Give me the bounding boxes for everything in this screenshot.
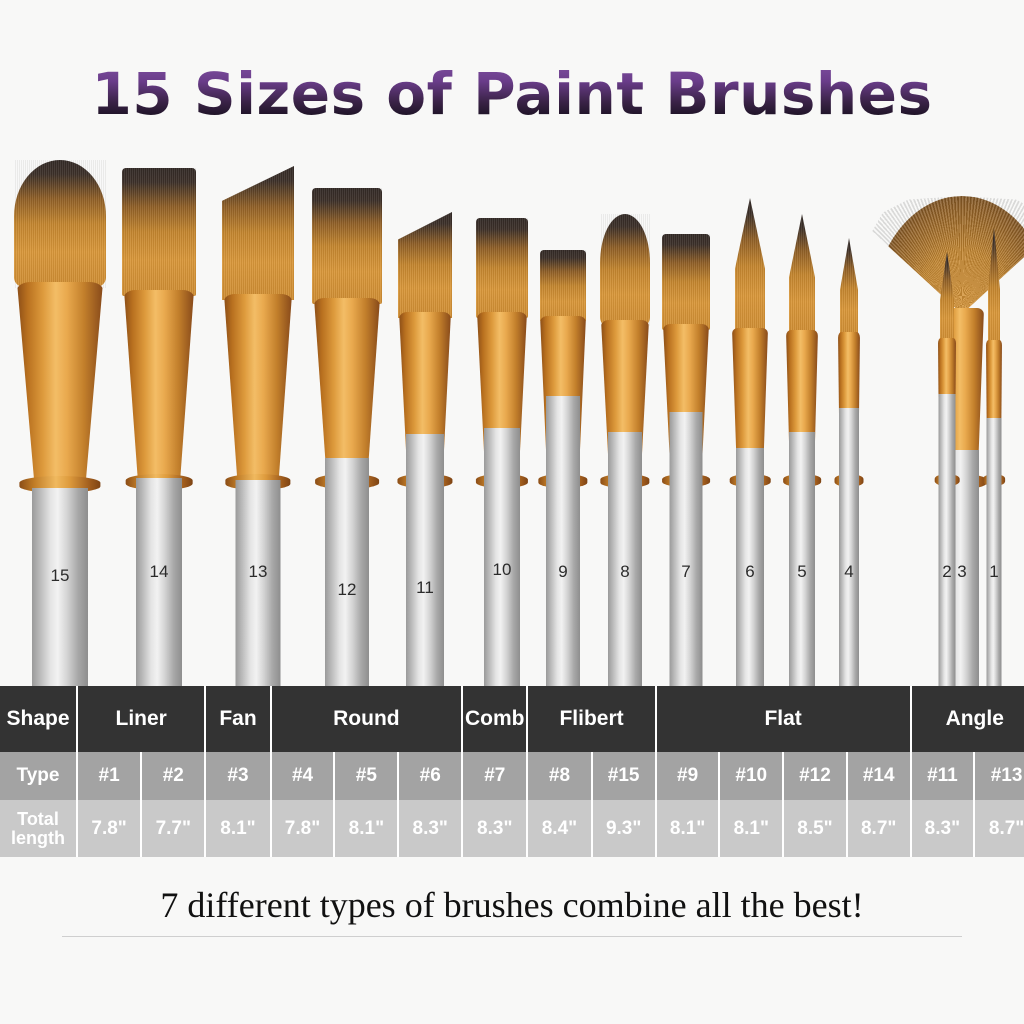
brush-head-flat-square <box>662 234 710 330</box>
type-cell-n8: #8 <box>527 752 591 800</box>
brush-head-angle <box>222 166 294 300</box>
handle-number-14: 14 <box>150 562 169 582</box>
handle-number-7: 7 <box>681 562 690 582</box>
brush-15: 15 <box>14 160 106 686</box>
type-cell-n13: #13 <box>974 752 1024 800</box>
brush-head-round-dome <box>600 214 650 326</box>
handle-number-13: 13 <box>249 562 268 582</box>
brush-2: 2 <box>938 252 956 686</box>
brush-10: 10 <box>476 218 528 686</box>
length-cell-n6: 8.3" <box>398 800 462 857</box>
handle-number-10: 10 <box>493 560 512 580</box>
brush-head-flat-square <box>476 218 528 318</box>
brush-handle <box>236 480 281 686</box>
brush-4: 4 <box>838 238 860 686</box>
handle-number-11: 11 <box>416 578 434 598</box>
type-cell-n1: #1 <box>77 752 141 800</box>
type-cell-n5: #5 <box>334 752 398 800</box>
table-row-shape: ShapeLinerFanRoundCombFlibertFlatAngle <box>0 686 1024 752</box>
type-cell-n6: #6 <box>398 752 462 800</box>
length-cell-n3: 8.1" <box>205 800 270 857</box>
brush-handle <box>789 432 815 686</box>
brush-head-point <box>940 252 954 344</box>
shape-group-liner: Liner <box>77 686 205 752</box>
length-cell-n8: 8.4" <box>527 800 591 857</box>
length-cell-n13: 8.7" <box>974 800 1024 857</box>
brush-5: 5 <box>786 214 818 686</box>
brush-head-point <box>789 214 815 336</box>
length-cell-n2: 7.7" <box>141 800 205 857</box>
brush-ferrule <box>224 294 292 480</box>
brush-handle <box>939 394 956 686</box>
tagline: 7 different types of brushes combine all… <box>0 884 1024 926</box>
type-cell-n7: #7 <box>462 752 527 800</box>
brush-handle <box>987 418 1002 686</box>
length-cell-n1: 7.8" <box>77 800 141 857</box>
brush-head-flat-square <box>540 250 586 322</box>
brush-handle <box>484 428 520 686</box>
brush-14: 14 <box>122 168 196 686</box>
brush-head-point <box>840 238 858 338</box>
brush-handle <box>608 432 642 686</box>
brush-head-point <box>735 198 765 334</box>
type-cell-n2: #2 <box>141 752 205 800</box>
page-title: 15 Sizes of Paint Brushes <box>0 64 1024 125</box>
brush-13: 13 <box>222 166 294 686</box>
handle-number-4: 4 <box>844 562 853 582</box>
brush-handle <box>325 458 369 686</box>
table-row-length: Totallength7.8"7.7"8.1"7.8"8.1"8.3"8.3"8… <box>0 800 1024 857</box>
shape-group-flibert: Flibert <box>527 686 655 752</box>
type-cell-n9: #9 <box>656 752 720 800</box>
brush-handle <box>839 408 859 686</box>
shape-group-angle: Angle <box>911 686 1024 752</box>
brush-9: 9 <box>540 250 586 686</box>
brush-1: 1 <box>986 228 1002 686</box>
handle-number-9: 9 <box>558 562 567 582</box>
brush-ferrule <box>314 298 380 480</box>
length-cell-n14: 8.7" <box>847 800 911 857</box>
table-row-type: Type#1#2#3#4#5#6#7#8#15#9#10#12#14#11#13 <box>0 752 1024 800</box>
shape-group-round: Round <box>271 686 463 752</box>
brush-ferrule <box>17 282 103 482</box>
brush-handle <box>546 396 580 686</box>
brush-head-flat-square <box>312 188 382 304</box>
type-cell-n15: #15 <box>592 752 656 800</box>
brush-head-point <box>988 228 1000 346</box>
handle-number-12: 12 <box>338 580 357 600</box>
handle-number-3: 3 <box>957 562 966 582</box>
brush-lineup-illustration: 151413121110987654321 <box>0 160 1024 686</box>
length-cell-n4: 7.8" <box>271 800 335 857</box>
type-cell-n11: #11 <box>911 752 975 800</box>
length-cell-n5: 8.1" <box>334 800 398 857</box>
type-cell-n4: #4 <box>271 752 335 800</box>
handle-number-5: 5 <box>797 562 806 582</box>
length-cell-n10: 8.1" <box>719 800 783 857</box>
brush-11: 11 <box>398 212 452 686</box>
type-cell-n14: #14 <box>847 752 911 800</box>
specification-table: ShapeLinerFanRoundCombFlibertFlatAngle T… <box>0 686 1024 857</box>
brush-handle <box>136 478 182 686</box>
row-label-shape: Shape <box>0 686 77 752</box>
handle-number-1: 1 <box>989 562 998 582</box>
brush-handle <box>406 434 444 686</box>
row-label-type: Type <box>0 752 77 800</box>
length-cell-n11: 8.3" <box>911 800 975 857</box>
tagline-divider <box>62 936 962 937</box>
brush-8: 8 <box>600 214 650 686</box>
brush-head-angle <box>398 212 452 318</box>
brush-handle <box>670 412 703 686</box>
length-cell-n12: 8.5" <box>783 800 847 857</box>
length-cell-n15: 9.3" <box>592 800 656 857</box>
brush-7: 7 <box>662 234 710 686</box>
length-cell-n9: 8.1" <box>656 800 720 857</box>
handle-number-2: 2 <box>942 562 951 582</box>
brush-6: 6 <box>732 198 768 686</box>
brush-12: 12 <box>312 188 382 686</box>
type-cell-n10: #10 <box>719 752 783 800</box>
handle-number-8: 8 <box>620 562 629 582</box>
length-cell-n7: 8.3" <box>462 800 527 857</box>
handle-number-15: 15 <box>51 566 70 586</box>
handle-number-6: 6 <box>745 562 754 582</box>
brush-head-flat-square <box>122 168 196 296</box>
infographic-poster: 15 Sizes of Paint Brushes 15141312111098… <box>0 0 1024 1024</box>
type-cell-n12: #12 <box>783 752 847 800</box>
shape-group-flat: Flat <box>656 686 911 752</box>
type-cell-n3: #3 <box>205 752 270 800</box>
row-label-length: Totallength <box>0 800 77 857</box>
brush-ferrule <box>124 290 194 480</box>
shape-group-comb: Comb <box>462 686 527 752</box>
shape-group-fan: Fan <box>205 686 270 752</box>
brush-head-round-dome <box>14 160 106 288</box>
brush-handle <box>32 488 88 686</box>
